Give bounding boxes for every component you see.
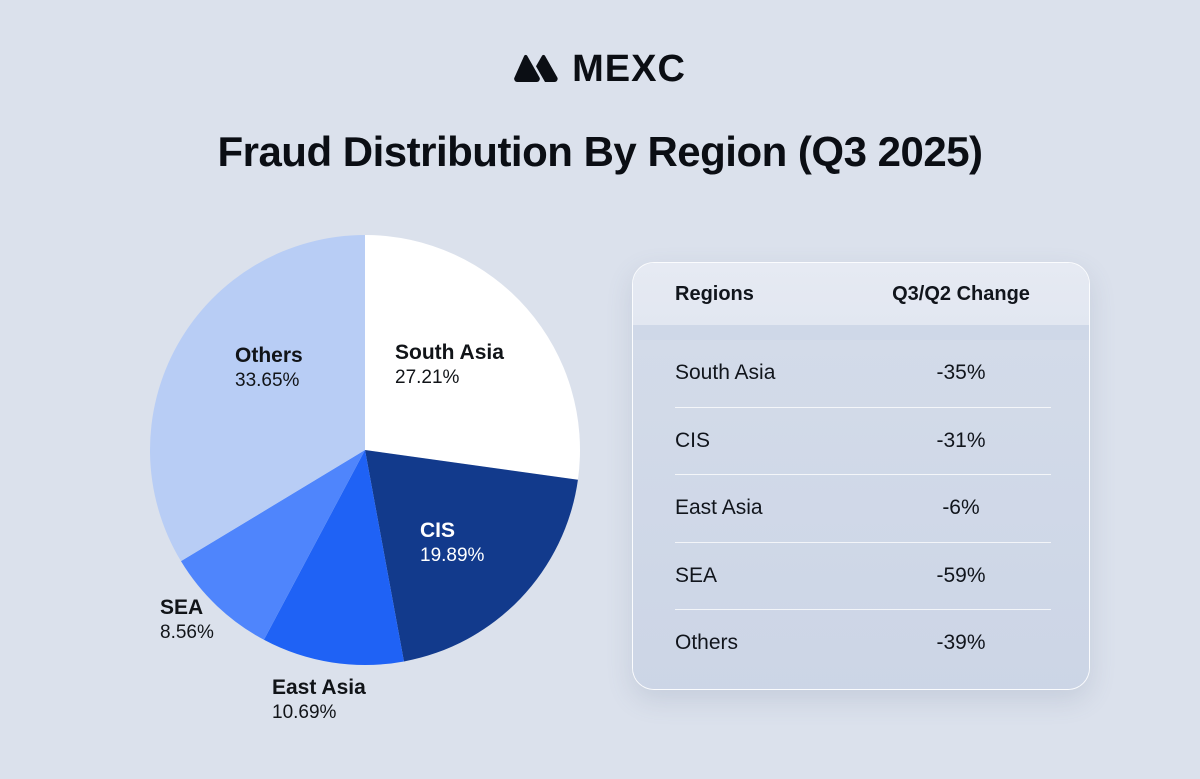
table-row: CIS -31%	[675, 408, 1051, 476]
cell-region: East Asia	[675, 496, 871, 520]
table-row: East Asia -6%	[675, 475, 1051, 543]
table-row: Others -39%	[675, 610, 1051, 677]
pie-chart-svg	[100, 215, 630, 725]
pie-label-south-asia-value: 27.21%	[395, 366, 504, 389]
cell-change: -31%	[871, 429, 1051, 453]
cell-change: -35%	[871, 361, 1051, 385]
cell-change: -59%	[871, 564, 1051, 588]
pie-label-cis: CIS 19.89%	[420, 518, 484, 567]
brand-lockup: MEXC	[0, 50, 1200, 88]
pie-chart: Others 33.65% South Asia 27.21% CIS 19.8…	[100, 215, 630, 725]
pie-label-sea-value: 8.56%	[160, 621, 214, 644]
mexc-mountain-logo-icon	[514, 54, 558, 84]
cell-region: CIS	[675, 429, 871, 453]
table-header-row: Regions Q3/Q2 Change	[633, 263, 1089, 325]
table-row: South Asia -35%	[675, 340, 1051, 408]
pie-label-cis-name: CIS	[420, 518, 484, 544]
table-body: South Asia -35% CIS -31% East Asia -6% S…	[633, 340, 1089, 690]
table-row: SEA -59%	[675, 543, 1051, 611]
cell-region: SEA	[675, 564, 871, 588]
page-title: Fraud Distribution By Region (Q3 2025)	[0, 128, 1200, 176]
column-header-regions: Regions	[675, 283, 871, 306]
column-header-change: Q3/Q2 Change	[871, 283, 1051, 306]
pie-label-east-asia-value: 10.69%	[272, 701, 366, 724]
pie-label-others-name: Others	[235, 343, 303, 369]
pie-label-cis-value: 19.89%	[420, 544, 484, 567]
regions-change-card: Regions Q3/Q2 Change South Asia -35% CIS…	[632, 262, 1090, 690]
pie-label-south-asia-name: South Asia	[395, 340, 504, 366]
brand-wordmark: MEXC	[572, 50, 686, 88]
cell-change: -39%	[871, 631, 1051, 655]
cell-region: South Asia	[675, 361, 871, 385]
cell-change: -6%	[871, 496, 1051, 520]
pie-label-others: Others 33.65%	[235, 343, 303, 392]
cell-region: Others	[675, 631, 871, 655]
pie-label-sea: SEA 8.56%	[160, 595, 214, 644]
pie-label-east-asia-name: East Asia	[272, 675, 366, 701]
pie-label-others-value: 33.65%	[235, 369, 303, 392]
pie-label-south-asia: South Asia 27.21%	[395, 340, 504, 389]
pie-label-east-asia: East Asia 10.69%	[272, 675, 366, 724]
pie-label-sea-name: SEA	[160, 595, 214, 621]
